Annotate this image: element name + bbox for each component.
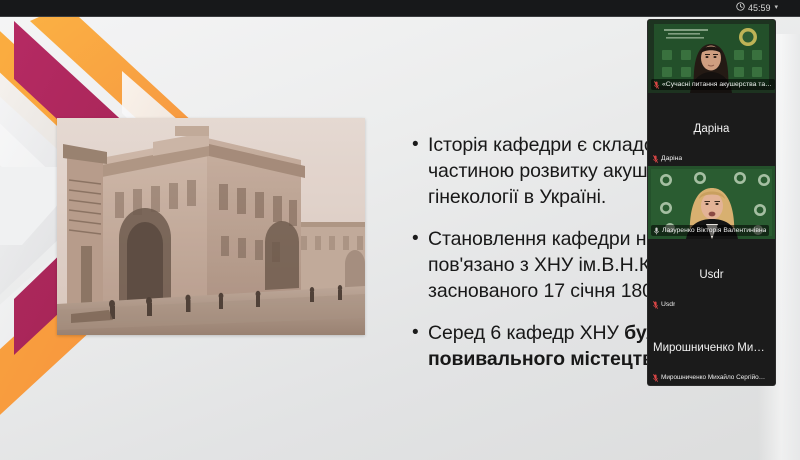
participant-name-usdr: Usdr — [661, 300, 675, 309]
bullet-departments-text: Серед 6 кафедр ХНУ — [428, 322, 624, 344]
participant-namebar-presenter: «Сучасні питання акушерства та… — [651, 79, 775, 90]
mic-muted-icon — [653, 301, 658, 309]
bullet-marker: • — [412, 226, 428, 304]
participant-rail[interactable]: «Сучасні питання акушерства та… Даріна Д… — [648, 20, 775, 385]
participant-placeholder-darina: Даріна — [648, 122, 775, 134]
bullet-marker: • — [412, 320, 428, 372]
participant-name-myroshnychenko: Мирошниченко Михайло Сергійо… — [661, 373, 765, 382]
participant-tile-lazurenko[interactable]: Лазуренко Вікторія Валентинівна — [648, 166, 775, 239]
participant-namebar-myroshnychenko: Мирошниченко Михайло Сергійо… — [651, 373, 767, 382]
participant-placeholder-myroshnychenko: Мирошниченко Миха… — [648, 341, 775, 353]
participant-tile-myroshnychenko[interactable]: Мирошниченко Миха… Мирошниченко Михайло … — [648, 312, 775, 385]
clock-icon — [736, 2, 745, 14]
mic-icon — [654, 227, 659, 235]
mic-muted-icon — [653, 374, 658, 382]
participant-tile-darina[interactable]: Даріна Даріна — [648, 93, 775, 166]
mic-muted-icon — [653, 155, 658, 163]
chevron-down-icon[interactable]: ▾ — [774, 2, 778, 14]
participant-name-darina: Даріна — [661, 154, 682, 163]
screen-capture: • Історія кафедри є складо частиною розв… — [0, 0, 800, 460]
timer-value: 45:59 — [748, 2, 771, 14]
historical-building-photograph — [57, 118, 365, 335]
participant-tile-usdr[interactable]: Usdr Usdr — [648, 239, 775, 312]
participant-namebar-usdr: Usdr — [651, 300, 677, 309]
bullet-history-text: Історія кафедри є складо частиною розвит… — [428, 132, 655, 210]
participant-placeholder-usdr: Usdr — [648, 268, 775, 280]
letterbox-divider — [0, 16, 800, 17]
participant-name-lazurenko: Лазуренко Вікторія Валентинівна — [662, 226, 766, 235]
meeting-timer[interactable]: 45:59 ▾ — [736, 2, 778, 14]
participant-tile-presenter[interactable]: «Сучасні питання акушерства та… — [648, 20, 775, 93]
letterbox-top — [0, 0, 800, 16]
participant-namebar-darina: Даріна — [651, 154, 684, 163]
participant-namebar-lazurenko: Лазуренко Вікторія Валентинівна — [651, 225, 769, 236]
mic-muted-icon — [654, 81, 659, 89]
bullet-marker: • — [412, 132, 428, 210]
participant-name-presenter: «Сучасні питання акушерства та… — [662, 80, 772, 89]
bullet-foundation-text: Становлення кафедри не пов'язано з ХНУ і… — [428, 226, 661, 304]
